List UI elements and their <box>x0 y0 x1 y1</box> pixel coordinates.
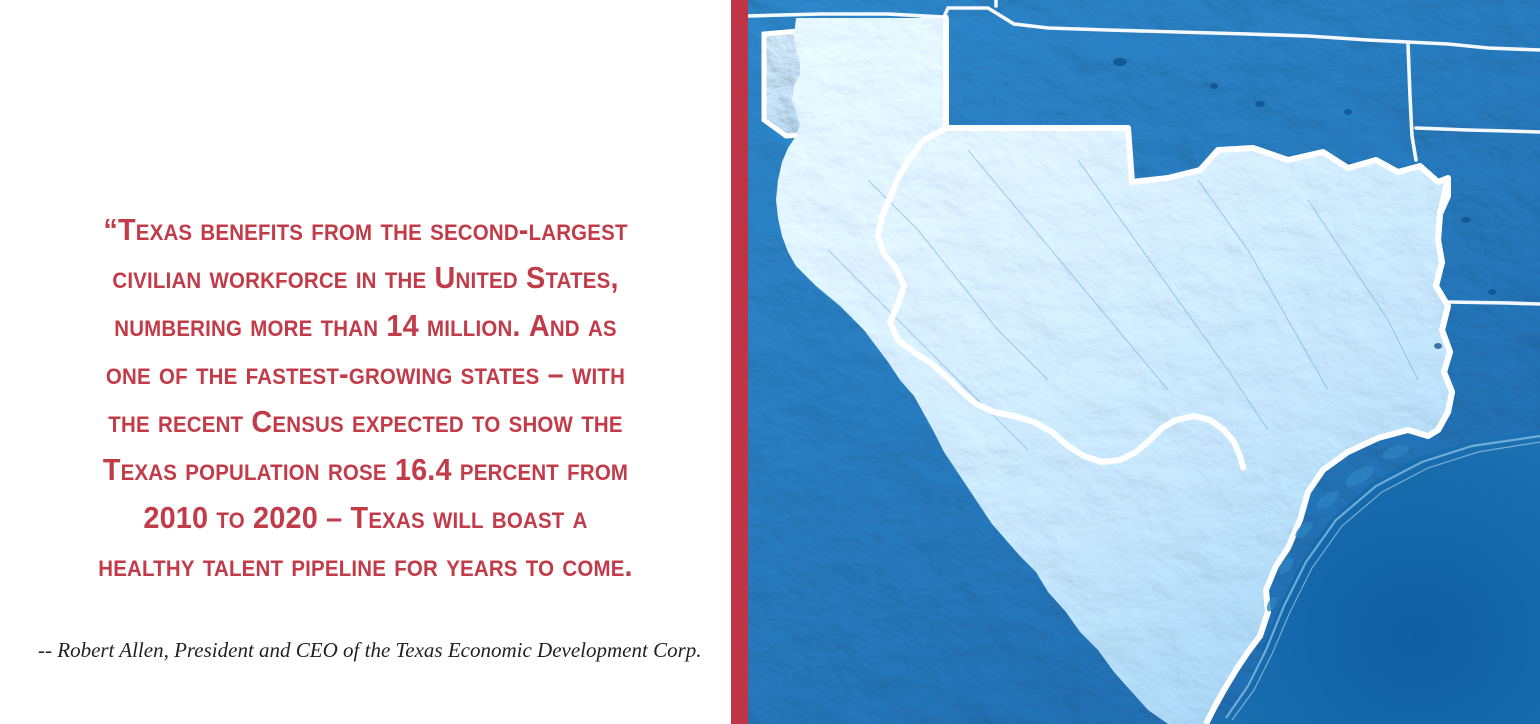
quote-line-4: one of the fastest-growing states – with <box>26 350 706 398</box>
red-divider-bar <box>731 0 748 724</box>
map-graphic <box>748 0 1540 724</box>
quote-line-8: healthy talent pipeline for years to com… <box>26 542 706 590</box>
quote-panel: “Texas benefits from the second-largest … <box>0 0 731 724</box>
texas-relief-map <box>748 0 1540 724</box>
quote-line-6: Texas population rose 16.4 percent from <box>26 446 706 494</box>
quote-line-5: the recent Census expected to show the <box>26 398 706 446</box>
attribution-text: -- Robert Allen, President and CEO of th… <box>38 638 702 662</box>
quote-slide: “Texas benefits from the second-largest … <box>0 0 1540 724</box>
quote-line-1: “Texas benefits from the second-largest <box>26 206 706 254</box>
quote-line-3: numbering more than 14 million. And as <box>26 302 706 350</box>
pull-quote: “Texas benefits from the second-largest … <box>0 206 731 590</box>
quote-attribution: -- Robert Allen, President and CEO of th… <box>0 632 710 669</box>
quote-line-7: 2010 to 2020 – Texas will boast a <box>26 494 706 542</box>
quote-line-2: civilian workforce in the United States, <box>26 254 706 302</box>
